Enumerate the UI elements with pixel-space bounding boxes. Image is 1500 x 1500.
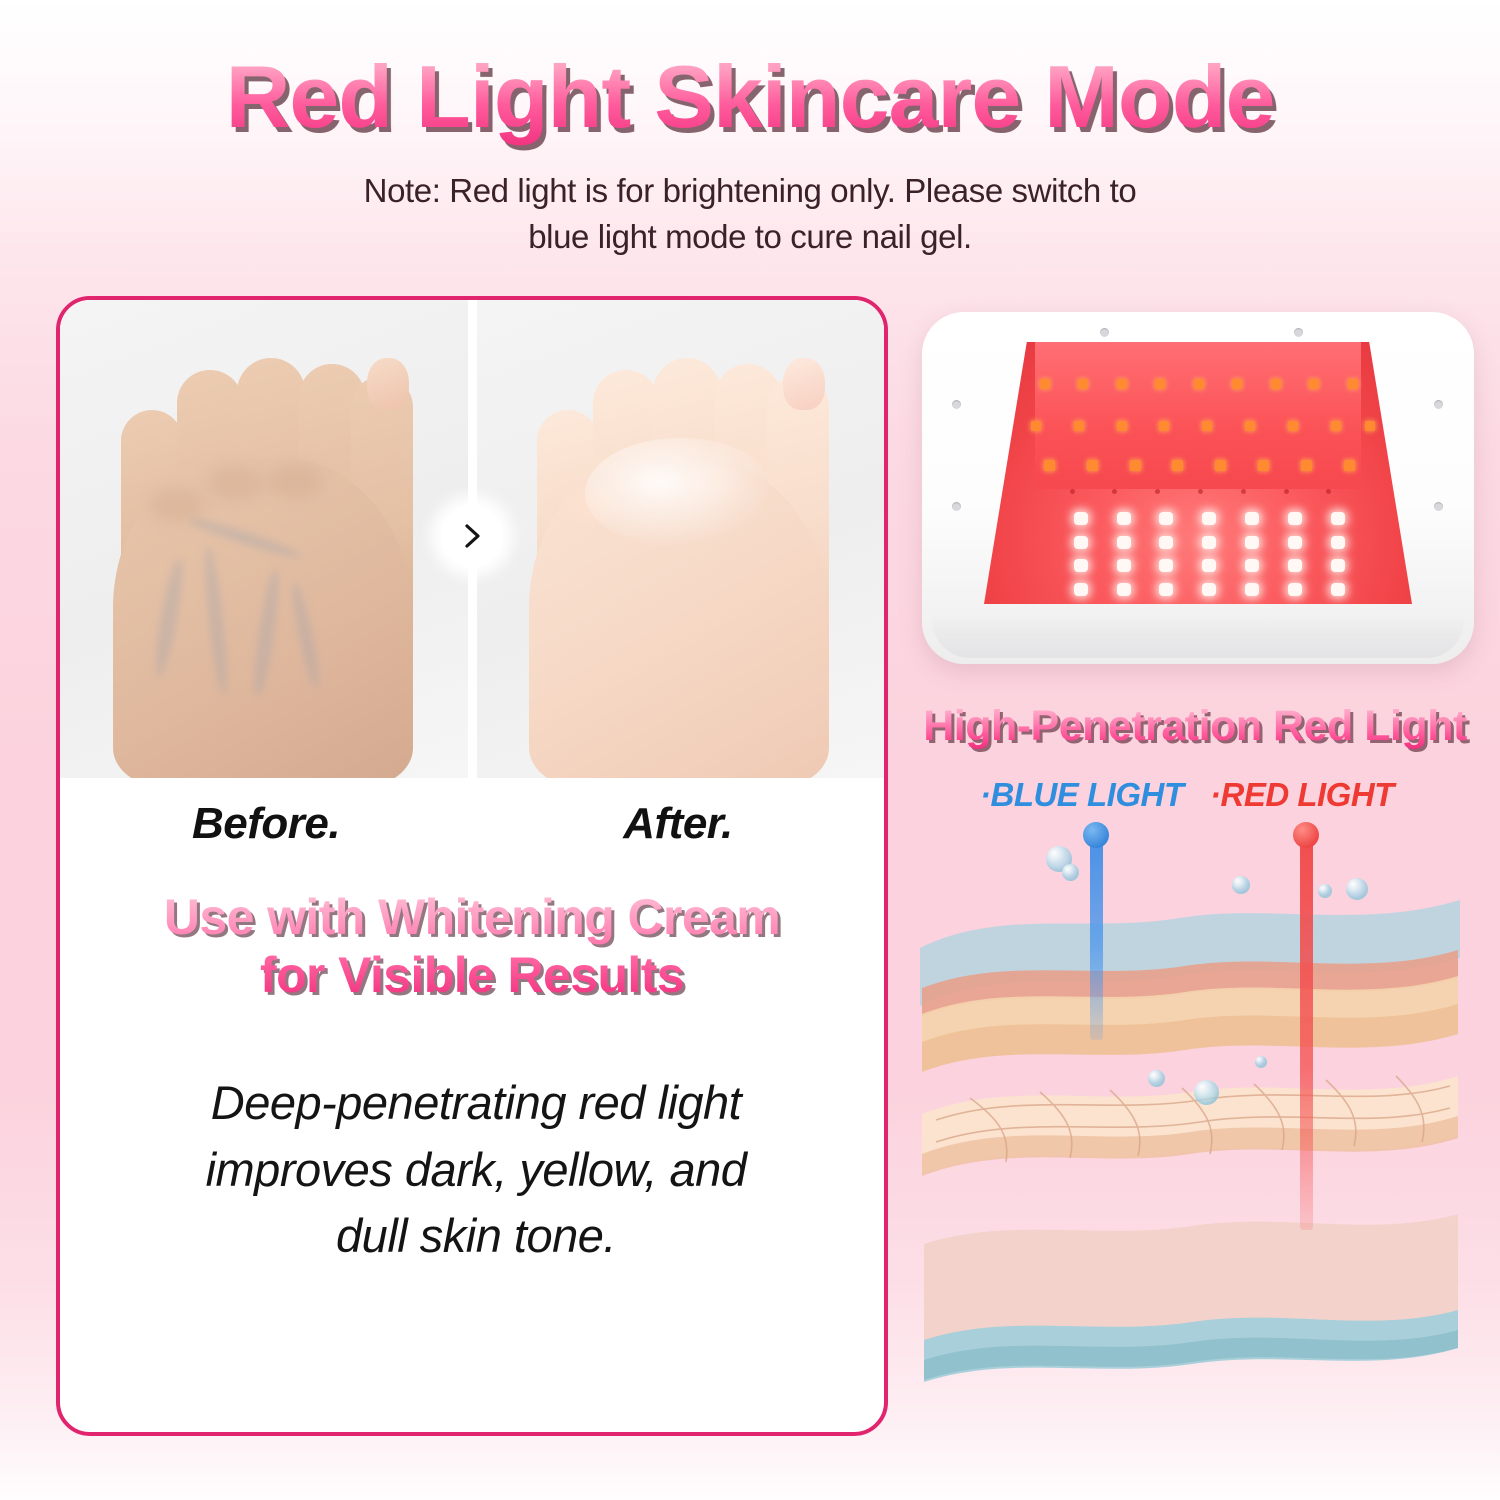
blue-light-beam (1090, 830, 1103, 1040)
moisture-bubble (1318, 884, 1332, 898)
led-array (984, 342, 1412, 604)
moisture-bubble (1148, 1070, 1165, 1087)
left-content-card: Before. After. Use with Whitening Cream … (56, 296, 888, 1436)
after-photo (477, 300, 885, 778)
red-light-source-dot (1293, 822, 1319, 848)
red-light-lamp-device-icon (922, 312, 1474, 664)
light-type-legend: ·BLUE LIGHT ·RED LIGHT (980, 776, 1400, 820)
hand-illustration-before (99, 318, 429, 778)
blue-light-source-dot (1083, 822, 1109, 848)
before-after-images (60, 300, 884, 778)
page-title: Red Light Skincare Mode (0, 46, 1500, 148)
whitening-cream-headline: Use with Whitening Cream for Visible Res… (60, 888, 884, 1004)
screw-icon (1294, 328, 1303, 337)
device-led-cavity (984, 342, 1412, 604)
note-line-2: blue light mode to cure nail gel. (528, 218, 972, 255)
skin-layer-hypodermis (910, 1208, 1470, 1408)
headline1-line-2: for Visible Results (260, 947, 684, 1003)
red-light-beam (1300, 830, 1313, 1230)
before-label: Before. (60, 778, 472, 870)
body-description: Deep-penetrating red light improves dark… (120, 1070, 832, 1270)
screw-icon (952, 502, 961, 511)
hand-illustration-after (515, 318, 845, 778)
chevron-right-icon (441, 505, 503, 567)
screw-icon (1434, 502, 1443, 511)
screw-icon (1100, 328, 1109, 337)
screw-icon (1434, 400, 1443, 409)
moisture-bubble (1255, 1056, 1267, 1068)
note-text: Note: Red light is for brightening only.… (0, 168, 1500, 259)
legend-red-light: ·RED LIGHT (1210, 776, 1394, 814)
moisture-bubble (1194, 1080, 1219, 1105)
after-label: After. (472, 778, 884, 870)
body-line-2: improves dark, yellow, and (206, 1143, 747, 1196)
screw-icon (952, 400, 961, 409)
moisture-bubble (1232, 876, 1250, 894)
headline1-line-1: Use with Whitening Cream (164, 889, 780, 945)
skin-layer-epidermis-group (910, 838, 1470, 1078)
body-line-3: dull skin tone. (336, 1209, 616, 1262)
legend-blue-light: ·BLUE LIGHT (980, 776, 1183, 814)
before-photo (60, 300, 477, 778)
before-after-labels: Before. After. (60, 778, 884, 870)
high-penetration-subhead: High-Penetration Red Light (890, 702, 1500, 751)
moisture-bubble (1346, 878, 1368, 900)
body-line-1: Deep-penetrating red light (211, 1076, 741, 1129)
skin-layer-dermis (910, 1058, 1470, 1218)
infographic-poster: Red Light Skincare Mode Note: Red light … (0, 0, 1500, 1500)
moisture-bubble (1062, 864, 1079, 881)
skin-layers-penetration-diagram (910, 818, 1480, 1438)
note-line-1: Note: Red light is for brightening only.… (364, 172, 1137, 209)
